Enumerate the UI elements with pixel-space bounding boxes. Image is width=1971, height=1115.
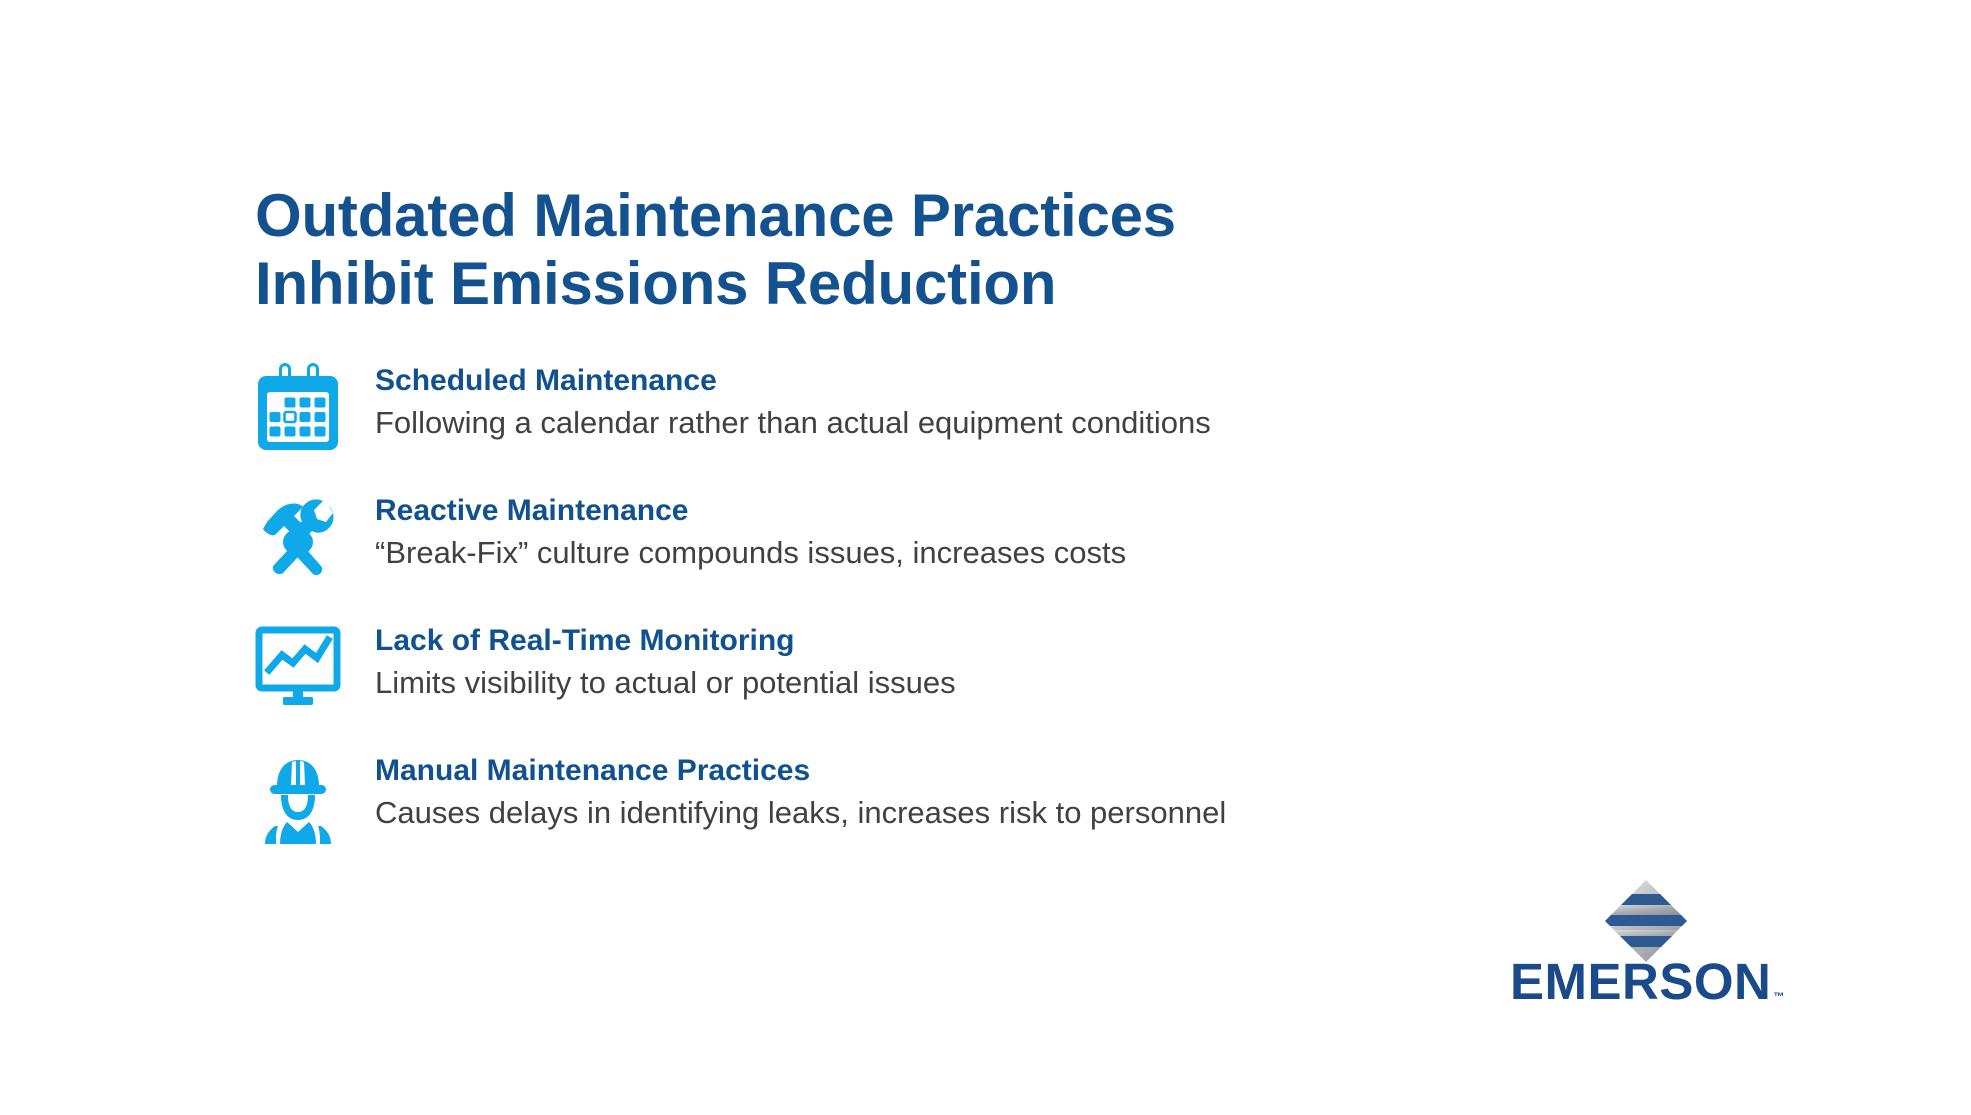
page-title: Outdated Maintenance Practices Inhibit E…	[255, 182, 1405, 318]
title-line-1: Outdated Maintenance Practices	[255, 182, 1405, 250]
hard-hat-worker-icon	[255, 750, 347, 850]
bullet-list: Scheduled Maintenance Following a calend…	[255, 360, 1755, 880]
list-item-heading: Manual Maintenance Practices	[375, 752, 1226, 790]
list-item: Reactive Maintenance “Break-Fix” culture…	[255, 490, 1755, 620]
emerson-wordmark: EMERSON	[1510, 956, 1771, 1007]
list-item-description: Causes delays in identifying leaks, incr…	[375, 794, 1226, 833]
list-item: Lack of Real-Time Monitoring Limits visi…	[255, 620, 1755, 750]
list-item: Manual Maintenance Practices Causes dela…	[255, 750, 1755, 880]
list-item-description: “Break-Fix” culture compounds issues, in…	[375, 534, 1126, 573]
title-line-2: Inhibit Emissions Reduction	[255, 250, 1405, 318]
list-item-text: Manual Maintenance Practices Causes dela…	[347, 750, 1226, 832]
monitor-chart-icon	[255, 620, 347, 720]
emerson-wordmark-row: EMERSON ™	[1510, 956, 1780, 1007]
trademark-symbol: ™	[1771, 991, 1784, 1007]
emerson-logo: EMERSON ™	[1510, 878, 1780, 1008]
list-item-heading: Lack of Real-Time Monitoring	[375, 622, 956, 660]
list-item: Scheduled Maintenance Following a calend…	[255, 360, 1755, 490]
calendar-icon	[255, 360, 347, 460]
list-item-text: Lack of Real-Time Monitoring Limits visi…	[347, 620, 956, 702]
list-item-heading: Reactive Maintenance	[375, 492, 1126, 530]
hammer-wrench-icon	[255, 490, 347, 590]
list-item-description: Limits visibility to actual or potential…	[375, 664, 956, 703]
list-item-description: Following a calendar rather than actual …	[375, 404, 1211, 443]
list-item-text: Reactive Maintenance “Break-Fix” culture…	[347, 490, 1126, 572]
slide-canvas: Outdated Maintenance Practices Inhibit E…	[0, 0, 1971, 1115]
list-item-text: Scheduled Maintenance Following a calend…	[347, 360, 1211, 442]
list-item-heading: Scheduled Maintenance	[375, 362, 1211, 400]
